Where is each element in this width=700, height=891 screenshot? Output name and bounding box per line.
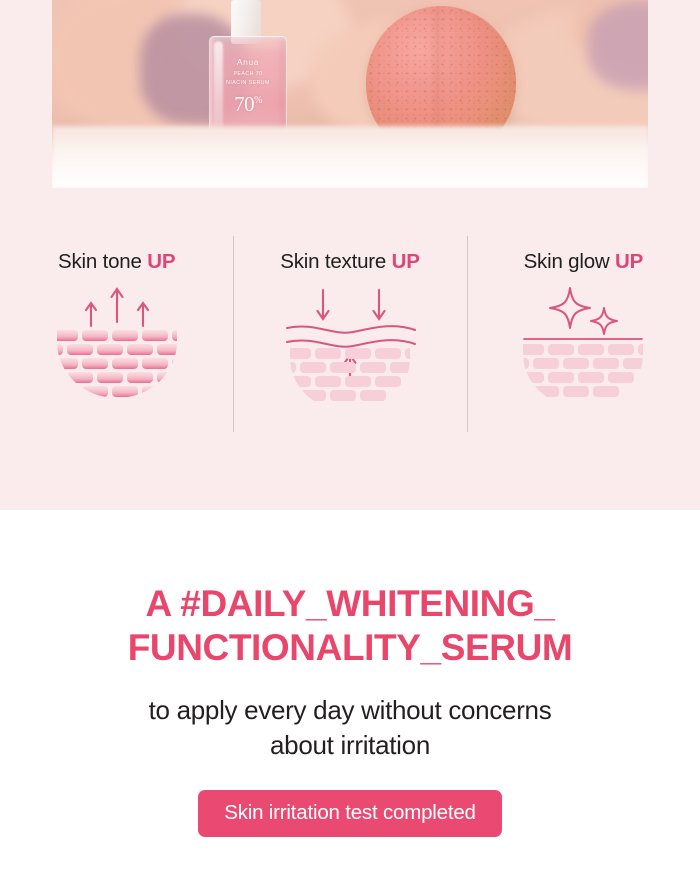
skin-glow-sparkle-icon	[508, 282, 658, 417]
feature-skin-tone: Skin tone UP	[0, 228, 233, 443]
bottle-percent-value: 70	[234, 92, 254, 116]
promo-subheadline-line-1: to apply every day without concerns	[149, 695, 552, 725]
feature-row: Skin tone UP	[0, 228, 700, 443]
bottle-product-line-2: NIACIN SERUM	[210, 80, 286, 87]
feature-skin-tone-emphasis: UP	[147, 250, 175, 273]
promo-subheadline: to apply every day without concerns abou…	[0, 669, 700, 762]
promo-headline-line-2: FUNCTIONALITY_SERUM	[128, 627, 573, 668]
bottle-label: Anua PEACH 70 NIACIN SERUM 70% 30mL / 1.…	[210, 57, 286, 136]
feature-skin-texture-emphasis: UP	[392, 250, 420, 273]
feature-skin-tone-text: Skin tone	[58, 250, 142, 273]
skin-irritation-test-badge[interactable]: Skin irritation test completed	[198, 790, 502, 837]
badge-container: Skin irritation test completed	[0, 790, 700, 837]
feature-skin-glow: Skin glow UP	[467, 228, 700, 443]
bottle-percent: 70%	[210, 91, 286, 117]
photo-backdrop: Anua PEACH 70 NIACIN SERUM 70% 30mL / 1.…	[52, 0, 648, 188]
bottle-product-line-1: PEACH 70	[210, 71, 286, 78]
promo-section: A #DAILY_WHITENING_ FUNCTIONALITY_SERUM …	[0, 510, 700, 891]
feature-skin-texture: Skin texture UP	[233, 228, 466, 443]
feature-skin-tone-label: Skin tone UP	[58, 250, 175, 274]
feature-skin-texture-label: Skin texture UP	[280, 250, 419, 274]
bottle-percent-symbol: %	[254, 95, 262, 106]
feature-skin-glow-emphasis: UP	[615, 250, 643, 273]
promo-headline: A #DAILY_WHITENING_ FUNCTIONALITY_SERUM	[0, 510, 700, 669]
bottle-brand: Anua	[210, 57, 286, 68]
feature-skin-texture-text: Skin texture	[280, 250, 386, 273]
feature-skin-glow-label: Skin glow UP	[524, 250, 644, 274]
feature-skin-glow-text: Skin glow	[524, 250, 610, 273]
product-detail-page: Anua PEACH 70 NIACIN SERUM 70% 30mL / 1.…	[0, 0, 700, 891]
bed-sheet	[52, 126, 648, 188]
skin-texture-wave-icon	[275, 282, 425, 417]
product-photo: Anua PEACH 70 NIACIN SERUM 70% 30mL / 1.…	[52, 0, 648, 188]
skin-tone-arrows-up-icon	[42, 282, 192, 417]
promo-subheadline-line-2: about irritation	[270, 730, 430, 760]
hero-section: Anua PEACH 70 NIACIN SERUM 70% 30mL / 1.…	[0, 0, 700, 510]
promo-headline-line-1: A #DAILY_WHITENING_	[145, 583, 554, 624]
